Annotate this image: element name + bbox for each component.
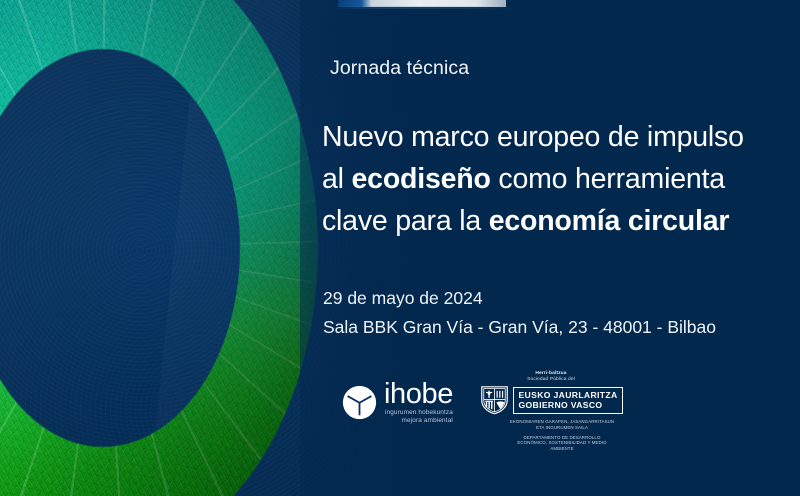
leaf-shading (0, 0, 318, 496)
ihobe-logo: ihobe ingurumen hobekuntza mejora ambien… (342, 380, 453, 425)
ihobe-cube-icon (342, 385, 377, 420)
title-line-3: clave para la economía circular (322, 200, 792, 242)
gv-dept-eu: EKONOMIAREN GARAPEN, JASANGARRITASUN ETA… (508, 419, 616, 430)
poster-content: Jornada técnica Nuevo marco europeo de i… (322, 0, 792, 496)
gv-name-es: GOBIERNO VASCO (518, 400, 617, 410)
gobierno-vasco-logo: Herri-baltzua Sociedad Pública del (486, 371, 616, 451)
gv-dept-es: DEPARTAMENTO DE DESARROLLO ECONÓMICO, SO… (508, 435, 616, 452)
gobierno-vasco-name-box: EUSKO JAURLARITZA GOBIERNO VASCO (513, 387, 622, 413)
ihobe-wordmark: ihobe (384, 381, 453, 407)
logo-row: ihobe ingurumen hobekuntza mejora ambien… (342, 371, 792, 461)
eyebrow-label: Jornada técnica (330, 57, 469, 80)
gv-name-eu: EUSKO JAURLARITZA (518, 390, 617, 400)
ihobe-tagline-eu: ingurumen hobekuntza (384, 409, 453, 417)
gobierno-vasco-mark: EUSKO JAURLARITZA GOBIERNO VASCO (486, 385, 616, 415)
leaf-ring-graphic (0, 0, 318, 496)
ihobe-wordmark-block: ihobe ingurumen hobekuntza mejora ambien… (384, 380, 453, 425)
event-poster: Jornada técnica Nuevo marco europeo de i… (0, 0, 800, 496)
gv-top-eu: Herri-baltzua (535, 371, 566, 376)
ihobe-tagline-es: mejora ambiental (384, 417, 453, 425)
title-emphasis: ecodiseño (352, 163, 491, 195)
gobierno-vasco-department: EKONOMIAREN GARAPEN, JASANGARRITASUN ETA… (486, 419, 616, 451)
event-details: 29 de mayo de 2024 Sala BBK Gran Vía - G… (323, 284, 793, 342)
ihobe-tagline: ingurumen hobekuntza mejora ambiental (384, 409, 453, 425)
event-date: 29 de mayo de 2024 (323, 284, 793, 313)
gobierno-vasco-subtitle: Herri-baltzua Sociedad Pública del (486, 371, 616, 383)
title-line-1: Nuevo marco europeo de impulso (322, 116, 792, 158)
event-venue: Sala BBK Gran Vía - Gran Vía, 23 - 48001… (323, 313, 793, 342)
title-emphasis: economía circular (489, 205, 730, 237)
basque-coat-of-arms-icon (479, 385, 510, 415)
gv-top-es: Sociedad Pública del (527, 377, 575, 382)
title-line-2: al ecodiseño como herramienta (322, 158, 792, 200)
page-title: Nuevo marco europeo de impulsoal ecodise… (322, 116, 792, 242)
